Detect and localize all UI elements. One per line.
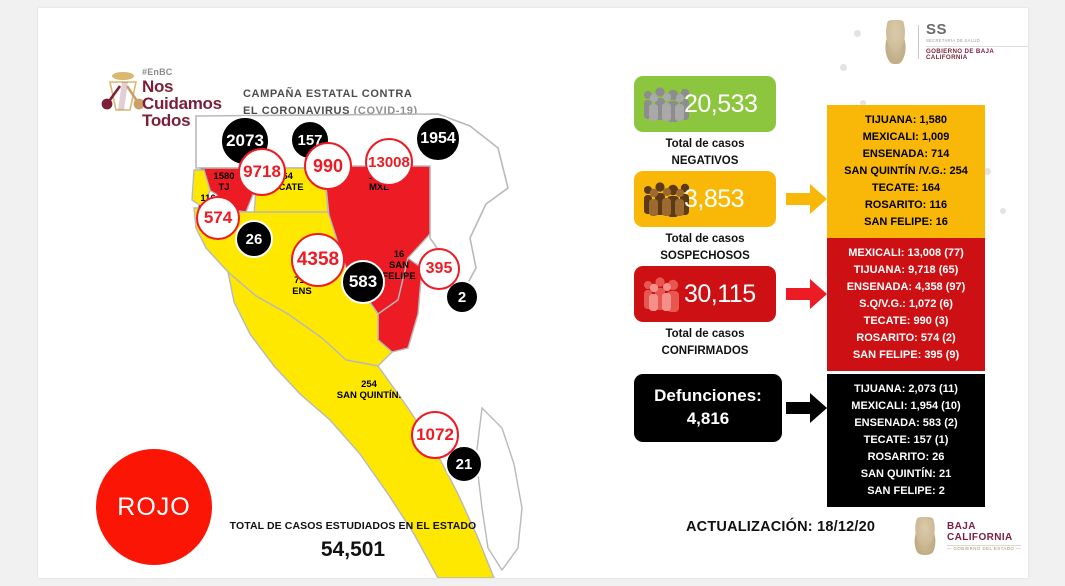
ss-logo: SS SECRETARÍA DE SALUD GOBIERNO DE BAJA … bbox=[880, 20, 1028, 64]
map-death-bubble-rosarito: 26 bbox=[235, 220, 273, 258]
stat-caption-negatives-line1: Total de casos bbox=[665, 138, 744, 150]
decorative-dot bbox=[1000, 208, 1006, 214]
campaign-title-line1: CAMPAÑA ESTATAL CONTRA bbox=[243, 88, 412, 100]
alert-level-badge: ROJO bbox=[96, 449, 212, 565]
stat-card-confirmed: 30,115 bbox=[634, 266, 776, 322]
stat-caption-suspected-line2: SOSPECHOSOS bbox=[634, 248, 776, 265]
panel-row: SAN QUINTÍN: 21 bbox=[831, 466, 981, 483]
panel-row: TIJUANA: 9,718 (65) bbox=[831, 262, 981, 279]
state-total: TOTAL DE CASOS ESTUDIADOS EN EL ESTADO 5… bbox=[223, 520, 483, 562]
alert-level-widget: ROJO bbox=[58, 426, 248, 578]
decorative-dot bbox=[840, 64, 847, 71]
stat-caption-confirmed-line1: Total de casos bbox=[665, 328, 744, 340]
stat-caption-suspected: Total de casos SOSPECHOSOS bbox=[634, 231, 776, 264]
logo-divider bbox=[918, 25, 919, 59]
ss-initials: SS bbox=[926, 22, 1028, 38]
panel-row: S.Q/V.G.: 1,072 (6) bbox=[831, 296, 981, 313]
stat-value-confirmed: 30,115 bbox=[684, 280, 756, 309]
state-total-caption: TOTAL DE CASOS ESTUDIADOS EN EL ESTADO bbox=[223, 520, 483, 532]
stat-caption-suspected-line1: Total de casos bbox=[665, 233, 744, 245]
map-death-bubble-ensenada: 583 bbox=[341, 260, 385, 304]
map-confirmed-bubble-san-felipe: 395 bbox=[418, 248, 460, 290]
campaign-hashtag: #EnBC bbox=[142, 68, 222, 77]
baja-california-logo: BAJA CALIFORNIA — GOBIERNO DEL ESTADO — bbox=[910, 517, 1021, 555]
map-region-label: 254 SAN QUINTÍN. bbox=[310, 380, 428, 402]
panel-row: ROSARITO: 574 (2) bbox=[831, 330, 981, 347]
decorative-dot bbox=[854, 30, 861, 37]
arrow-confirmed-icon bbox=[786, 277, 828, 311]
panel-row: MEXICALI: 1,954 (10) bbox=[831, 398, 981, 415]
ss-secretaria: SECRETARÍA DE SALUD bbox=[926, 39, 1028, 43]
panel-row: ENSENADA: 4,358 (97) bbox=[831, 279, 981, 296]
update-date: ACTUALIZACIÓN: 18/12/20 bbox=[686, 519, 875, 535]
state-total-value: 54,501 bbox=[223, 538, 483, 562]
campaign-name-line1: Nos bbox=[142, 78, 222, 95]
stat-caption-negatives: Total de casos NEGATIVOS bbox=[634, 136, 776, 169]
panel-row: ROSARITO: 116 bbox=[831, 197, 981, 214]
panel-suspected-by-municipality: TIJUANA: 1,580 MEXICALI: 1,009 ENSENADA:… bbox=[827, 105, 985, 238]
panel-row: ENSENADA: 714 bbox=[831, 146, 981, 163]
panel-row: TIJUANA: 1,580 bbox=[831, 112, 981, 129]
panel-confirmed-by-municipality: MEXICALI: 13,008 (77) TIJUANA: 9,718 (65… bbox=[827, 238, 985, 371]
state-crest-icon bbox=[910, 517, 940, 555]
panel-row: SAN QUINTÍN /V.G.: 254 bbox=[831, 163, 981, 180]
stat-caption-confirmed: Total de casos CONFIRMADOS bbox=[634, 326, 776, 359]
panel-deaths-by-municipality: TIJUANA: 2,073 (11) MEXICALI: 1,954 (10)… bbox=[827, 374, 985, 507]
arrow-deaths-icon bbox=[786, 391, 828, 425]
bc-logo-line3: — GOBIERNO DEL ESTADO — bbox=[947, 545, 1021, 552]
panel-row: TECATE: 164 bbox=[831, 180, 981, 197]
panel-row: SAN FELIPE: 2 bbox=[831, 483, 981, 500]
panel-row: ROSARITO: 26 bbox=[831, 449, 981, 466]
map-confirmed-bubble-mexicali: 13008 bbox=[365, 138, 413, 186]
government-crest-icon bbox=[880, 20, 911, 64]
slide-stage: #EnBC Nos Cuidamos Todos CAMPAÑA ESTATAL… bbox=[0, 0, 1065, 586]
map-confirmed-bubble-ensenada: 4358 bbox=[291, 233, 345, 287]
stat-caption-confirmed-line2: CONFIRMADOS bbox=[634, 343, 776, 360]
panel-row: TECATE: 990 (3) bbox=[831, 313, 981, 330]
map-confirmed-bubble-san-quintin: 1072 bbox=[411, 411, 459, 459]
stat-value-deaths: 4,816 bbox=[687, 408, 730, 431]
panel-row: MEXICALI: 13,008 (77) bbox=[831, 245, 981, 262]
arrow-suspected-icon bbox=[786, 182, 828, 216]
infographic-slide: #EnBC Nos Cuidamos Todos CAMPAÑA ESTATAL… bbox=[38, 8, 1028, 578]
stat-caption-negatives-line2: NEGATIVOS bbox=[634, 153, 776, 170]
map-confirmed-bubble-rosarito: 574 bbox=[196, 196, 240, 240]
stat-card-deaths: Defunciones: 4,816 bbox=[634, 374, 782, 442]
decorative-dot bbox=[984, 168, 991, 175]
panel-row: TIJUANA: 2,073 (11) bbox=[831, 381, 981, 398]
stat-value-suspected: 3,853 bbox=[684, 185, 744, 214]
panel-row: SAN FELIPE: 395 (9) bbox=[831, 347, 981, 364]
map-death-bubble-mexicali: 1954 bbox=[415, 116, 461, 162]
ss-government: GOBIERNO DE BAJA CALIFORNIA bbox=[926, 46, 1028, 62]
panel-row: TECATE: 157 (1) bbox=[831, 432, 981, 449]
stat-card-suspected: 3,853 bbox=[634, 171, 776, 227]
stat-value-negatives: 20,533 bbox=[684, 90, 757, 119]
bc-logo-line1: BAJA bbox=[947, 521, 1021, 532]
bc-logo-line2: CALIFORNIA bbox=[947, 532, 1021, 543]
panel-row: ENSENADA: 583 (2) bbox=[831, 415, 981, 432]
map-confirmed-bubble-tijuana: 9718 bbox=[238, 148, 286, 196]
panel-row: MEXICALI: 1,009 bbox=[831, 129, 981, 146]
stat-label-deaths: Defunciones: bbox=[654, 385, 762, 408]
stat-card-negatives: 20,533 bbox=[634, 76, 776, 132]
panel-row: SAN FELIPE: 16 bbox=[831, 214, 981, 231]
map-confirmed-bubble-tecate: 990 bbox=[304, 142, 352, 190]
